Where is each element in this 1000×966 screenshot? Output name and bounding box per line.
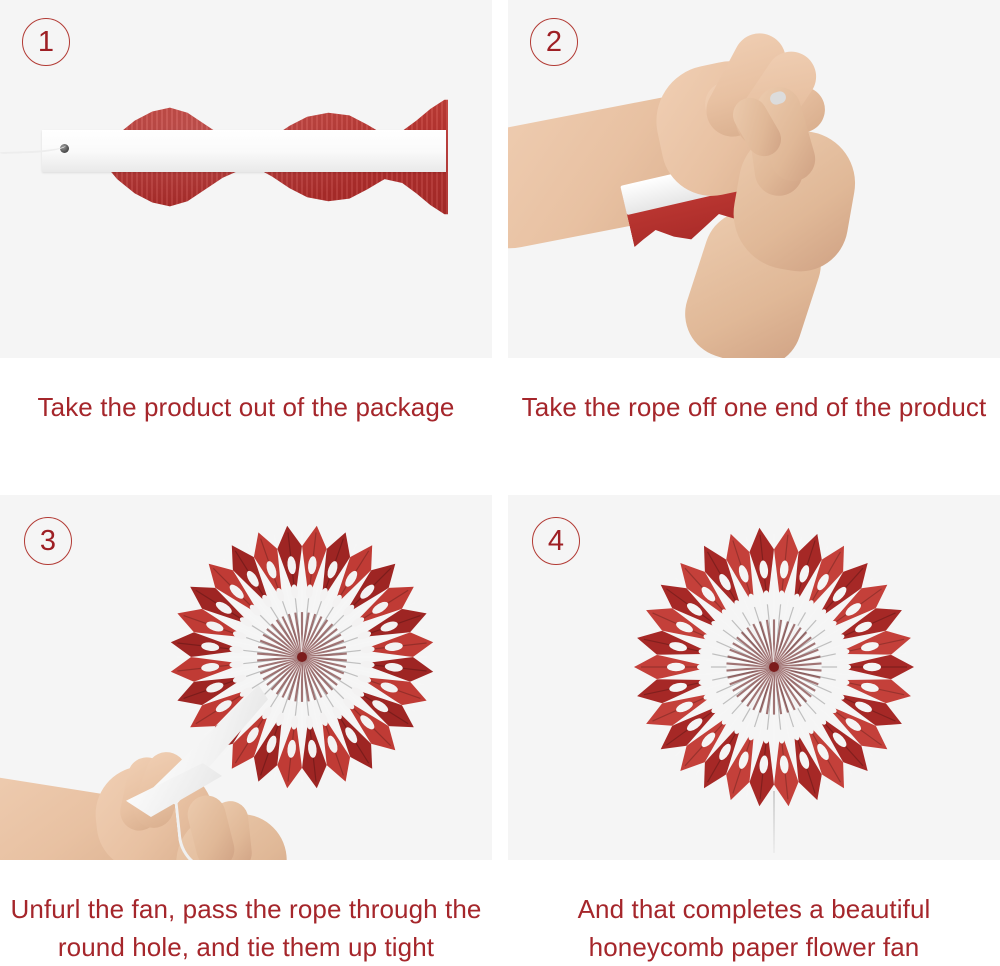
caption-line: Take the product out of the package — [0, 388, 492, 426]
step-card-3: 3 Unfurl the fan, pass the rope through … — [0, 495, 492, 966]
folded-fan-icon — [96, 92, 448, 222]
instruction-sheet: 1 Take the product out of the package 2 — [0, 0, 1000, 956]
step-3-caption: Unfurl the fan, pass the rope through th… — [0, 860, 492, 966]
step-card-2: 2 Take the rope off one end — [508, 0, 1000, 426]
cardboard-strip — [42, 130, 446, 172]
step-badge-1: 1 — [22, 18, 70, 66]
step-1-caption: Take the product out of the package — [0, 358, 492, 426]
step-3-photo: 3 — [0, 495, 492, 860]
finished-fan-icon — [624, 517, 924, 817]
step-badge-3: 3 — [24, 517, 72, 565]
step-badge-2: 2 — [530, 18, 578, 66]
step-2-photo: 2 — [508, 0, 1000, 358]
hanging-string-icon — [773, 791, 775, 853]
step-2-caption: Take the rope off one end of the product — [508, 358, 1000, 426]
rope-icon — [174, 791, 254, 860]
step-1-photo: 1 — [0, 0, 492, 358]
caption-line: honeycomb paper flower fan — [508, 928, 1000, 966]
caption-line: And that completes a beautiful — [508, 890, 1000, 928]
caption-line: Unfurl the fan, pass the rope through th… — [0, 890, 492, 928]
caption-line: Take the rope off one end of the product — [508, 388, 1000, 426]
step-4-caption: And that completes a beautiful honeycomb… — [508, 860, 1000, 966]
step-4-photo: 4 — [508, 495, 1000, 860]
step-card-4: 4 And that completes a beautiful honeyco… — [508, 495, 1000, 966]
step-badge-4: 4 — [532, 517, 580, 565]
caption-line: round hole, and tie them up tight — [0, 928, 492, 966]
step-card-1: 1 Take the product out of the package — [0, 0, 492, 426]
